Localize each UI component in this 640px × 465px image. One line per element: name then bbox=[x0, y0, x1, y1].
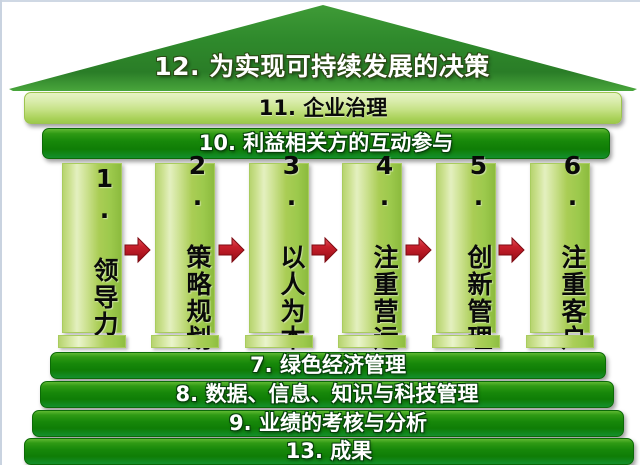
pillar-3[interactable]: 3. 以人为本 bbox=[249, 163, 309, 348]
bar-13-results[interactable]: 13. 成果 bbox=[24, 438, 634, 465]
pillar-5-base bbox=[432, 335, 500, 348]
pillar-6-base bbox=[526, 335, 594, 348]
pillar-1-base bbox=[58, 335, 126, 348]
arrow-3-to-4-icon bbox=[311, 236, 338, 264]
pillar-4-label: 4. 注重营运 bbox=[342, 163, 402, 333]
pillar-1-label: 1. 领导力 bbox=[62, 163, 122, 333]
bar-9-performance-review-analysis[interactable]: 9. 业绩的考核与分析 bbox=[32, 410, 624, 437]
bar-8-label: 8. 数据、信息、知识与科技管理 bbox=[176, 384, 479, 405]
bar-7-green-economy-management[interactable]: 7. 绿色经济管理 bbox=[50, 352, 606, 379]
roof-shape bbox=[8, 4, 638, 92]
bar-10-label: 10. 利益相关方的互动参与 bbox=[199, 133, 454, 154]
bar-11-corporate-governance[interactable]: 11. 企业治理 bbox=[24, 92, 622, 124]
pillar-4[interactable]: 4. 注重营运 bbox=[342, 163, 402, 348]
arrow-2-to-3-icon bbox=[218, 236, 245, 264]
arrow-1-to-2-icon bbox=[124, 236, 151, 264]
pillar-1[interactable]: 1. 领导力 bbox=[62, 163, 122, 348]
bar-11-label: 11. 企业治理 bbox=[259, 98, 388, 119]
pillar-2-base bbox=[151, 335, 219, 348]
pillar-2[interactable]: 2. 策略规划 bbox=[155, 163, 215, 348]
bar-13-label: 13. 成果 bbox=[286, 441, 373, 462]
bar-10-stakeholder-engagement[interactable]: 10. 利益相关方的互动参与 bbox=[42, 128, 610, 159]
pillar-3-base bbox=[245, 335, 313, 348]
arrow-4-to-5-icon bbox=[405, 236, 432, 264]
pillar-3-label: 3. 以人为本 bbox=[249, 163, 309, 333]
diagram-canvas: 12. 为实现可持续发展的决策 11. 企业治理 10. 利益相关方的互动参与 … bbox=[0, 0, 640, 465]
bar-9-label: 9. 业绩的考核与分析 bbox=[229, 413, 427, 434]
bar-8-data-info-knowledge-tech-management[interactable]: 8. 数据、信息、知识与科技管理 bbox=[40, 381, 614, 408]
pillar-5[interactable]: 5. 创新管理 bbox=[436, 163, 496, 348]
arrow-5-to-6-icon bbox=[498, 236, 525, 264]
pillar-6[interactable]: 6. 注重客户 bbox=[530, 163, 590, 348]
pillar-2-label: 2. 策略规划 bbox=[155, 163, 215, 333]
bar-7-label: 7. 绿色经济管理 bbox=[250, 355, 406, 376]
pillar-5-label: 5. 创新管理 bbox=[436, 163, 496, 333]
pillar-4-base bbox=[338, 335, 406, 348]
pillar-6-label: 6. 注重客户 bbox=[530, 163, 590, 333]
